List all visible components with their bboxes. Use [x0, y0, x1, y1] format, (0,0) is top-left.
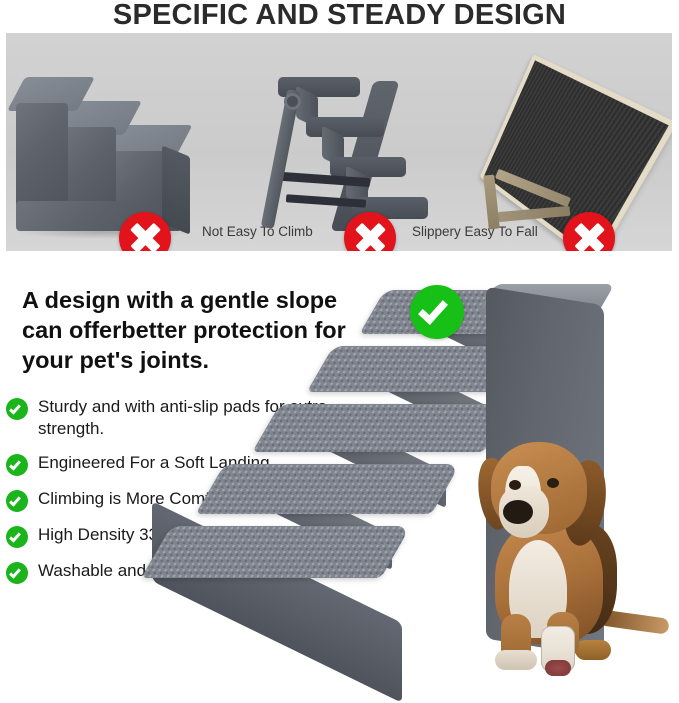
- page-title: SPECIFIC AND STEADY DESIGN: [0, 0, 679, 32]
- plastic-folding-stairs-image: [260, 71, 445, 241]
- foam-box-stairs-image: [14, 73, 239, 238]
- check-mark-icon: [6, 526, 28, 548]
- check-mark-icon: [6, 490, 28, 512]
- comparison-item-foam-box-stairs: Not Easy To Climb: [6, 33, 244, 251]
- comparison-item-wooden-carpet-ramp: [452, 33, 672, 251]
- wooden-carpet-ramp-image: [464, 71, 664, 241]
- dog-photo: [443, 428, 675, 678]
- comparison-panel: Not Easy To Climb Slippery Easy To Fall: [6, 33, 672, 251]
- comparison-item-plastic-folding-stairs: Slippery Easy To Fall: [244, 33, 452, 251]
- check-mark-icon-large: [410, 285, 464, 339]
- check-mark-icon: [6, 454, 28, 476]
- check-mark-icon: [6, 398, 28, 420]
- check-mark-icon: [6, 562, 28, 584]
